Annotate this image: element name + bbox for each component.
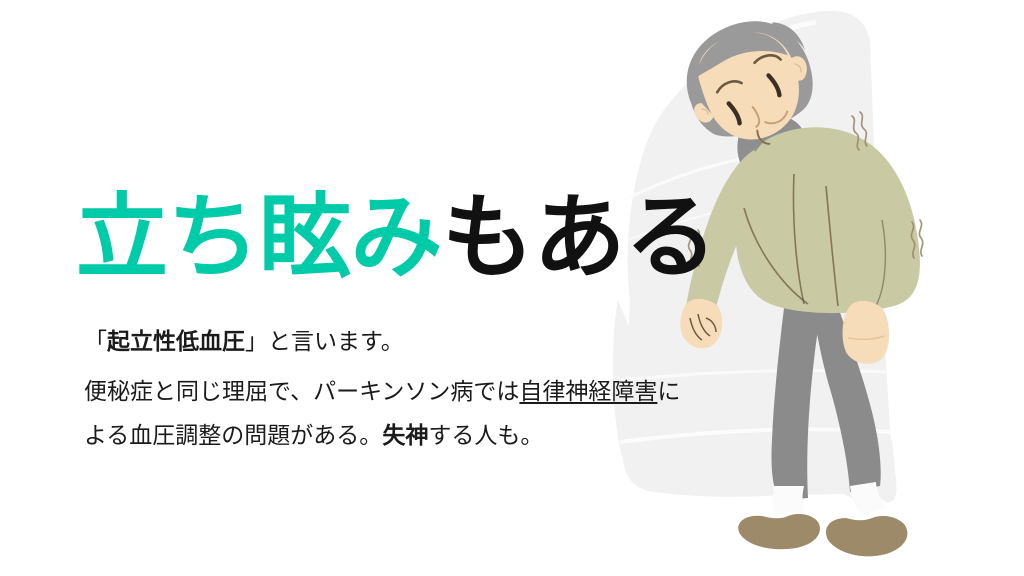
paragraph-line1-pre: 便秘症と同じ理屈で、パーキンソン病では: [84, 379, 519, 405]
close-bracket: 」: [245, 329, 268, 355]
figure-head: [673, 8, 827, 162]
paragraph-line2-pre: よる血圧調整の問題がある。: [84, 423, 382, 449]
headline-plain-text: もある: [442, 192, 717, 284]
paragraph-line1-post: に: [657, 379, 680, 405]
open-bracket: 「: [84, 329, 107, 355]
paragraph-line-1: 便秘症と同じ理屈で、パーキンソン病では自律神経障害に: [84, 381, 784, 404]
wobble-mark: [911, 220, 922, 258]
figure-legs: [766, 257, 893, 500]
paragraph-line2-post: する人も。: [428, 423, 543, 449]
figure-sweater: [686, 127, 920, 316]
wobble-marks: [689, 112, 923, 268]
slide-canvas: 立ち眩みもある 「起立性低血圧」と言います。 便秘症と同じ理屈で、パーキンソン病…: [0, 0, 1024, 576]
wobble-mark: [852, 112, 867, 150]
body-copy: 「起立性低血圧」と言います。 便秘症と同じ理屈で、パーキンソン病では自律神経障害…: [84, 330, 784, 448]
figure-socks: [773, 482, 886, 516]
lead-tail: と言います。: [268, 329, 404, 355]
page-title: 立ち眩みもある: [76, 186, 717, 290]
syncope-term: 失神: [382, 422, 428, 449]
lead-sentence: 「起立性低血圧」と言います。: [84, 330, 784, 354]
autonomic-dysfunction-term: 自律神経障害: [519, 379, 657, 405]
paragraph-line-2: よる血圧調整の問題がある。失神する人も。: [84, 424, 784, 448]
headline-accent-text: 立ち眩み: [76, 192, 442, 284]
figure-collar: [737, 115, 810, 212]
figure-shoes: [738, 514, 907, 556]
lead-key-term: 起立性低血圧: [107, 328, 245, 355]
